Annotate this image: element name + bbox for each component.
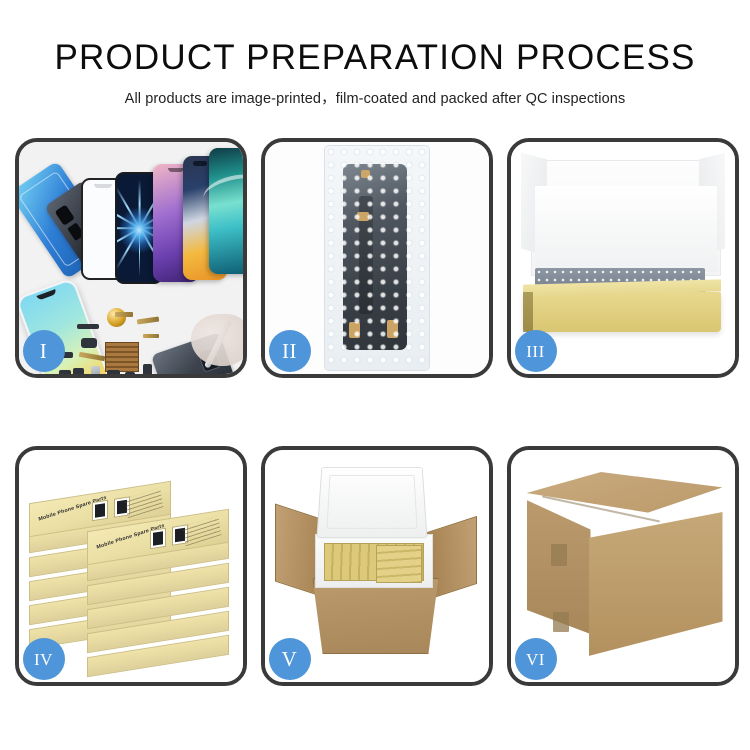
foam-lid-icon xyxy=(316,467,427,538)
component-chip-icon xyxy=(59,370,71,374)
speaker-coil-icon xyxy=(107,308,126,327)
step-panel-3: III xyxy=(507,138,739,378)
chip-grid-icon xyxy=(105,342,139,372)
carton-body-icon xyxy=(313,578,439,654)
component-chip-icon xyxy=(143,364,152,374)
component-chip-icon xyxy=(125,372,135,374)
step-panel-6: VI xyxy=(507,446,739,686)
component-chip-icon xyxy=(81,338,97,348)
step-panel-4: Mobile Phone Spare Parts Mobile Phone Sp… xyxy=(15,446,247,686)
step-panel-2: II xyxy=(261,138,493,378)
wrapped-part-icon xyxy=(343,164,407,350)
step-badge-1: I xyxy=(23,330,65,372)
teal-gradient-phone-icon xyxy=(209,148,243,274)
product-preparation-infographic: PRODUCT PREPARATION PROCESS All products… xyxy=(0,0,750,750)
page-subtitle: All products are image-printed，film-coat… xyxy=(0,87,750,108)
flex-cable-icon xyxy=(136,316,158,324)
step-panel-5: V xyxy=(261,446,493,686)
step-badge-4: IV xyxy=(23,638,65,680)
step-panel-1: I xyxy=(15,138,247,378)
process-steps-grid: I II xyxy=(0,138,750,698)
bubble-wrap-bag-icon xyxy=(325,146,429,370)
box-label-text: Mobile Phone Spare Parts xyxy=(38,489,124,522)
box-stack-icon: Mobile Phone Spare Parts Mobile Phone Sp… xyxy=(25,468,239,670)
flex-cable-icon xyxy=(115,312,133,317)
white-foam-sheet-icon xyxy=(535,186,717,272)
foam-insert-icon xyxy=(315,534,433,588)
component-bar-icon xyxy=(77,324,99,329)
step-badge-3: III xyxy=(515,330,557,372)
camera-module-icon xyxy=(107,370,120,374)
component-chip-icon xyxy=(73,368,84,374)
yellow-box-base-icon xyxy=(523,292,721,332)
page-title: PRODUCT PREPARATION PROCESS xyxy=(0,40,750,77)
sealed-carton-icon xyxy=(527,472,723,652)
header: PRODUCT PREPARATION PROCESS All products… xyxy=(0,0,750,108)
step-badge-2: II xyxy=(269,330,311,372)
flex-cable-icon xyxy=(143,334,159,338)
carton-right-face xyxy=(589,512,723,656)
sim-tray-icon xyxy=(91,366,100,374)
yellow-boxes-row-right xyxy=(376,545,422,583)
step-badge-6: VI xyxy=(515,638,557,680)
step-badge-5: V xyxy=(269,638,311,680)
